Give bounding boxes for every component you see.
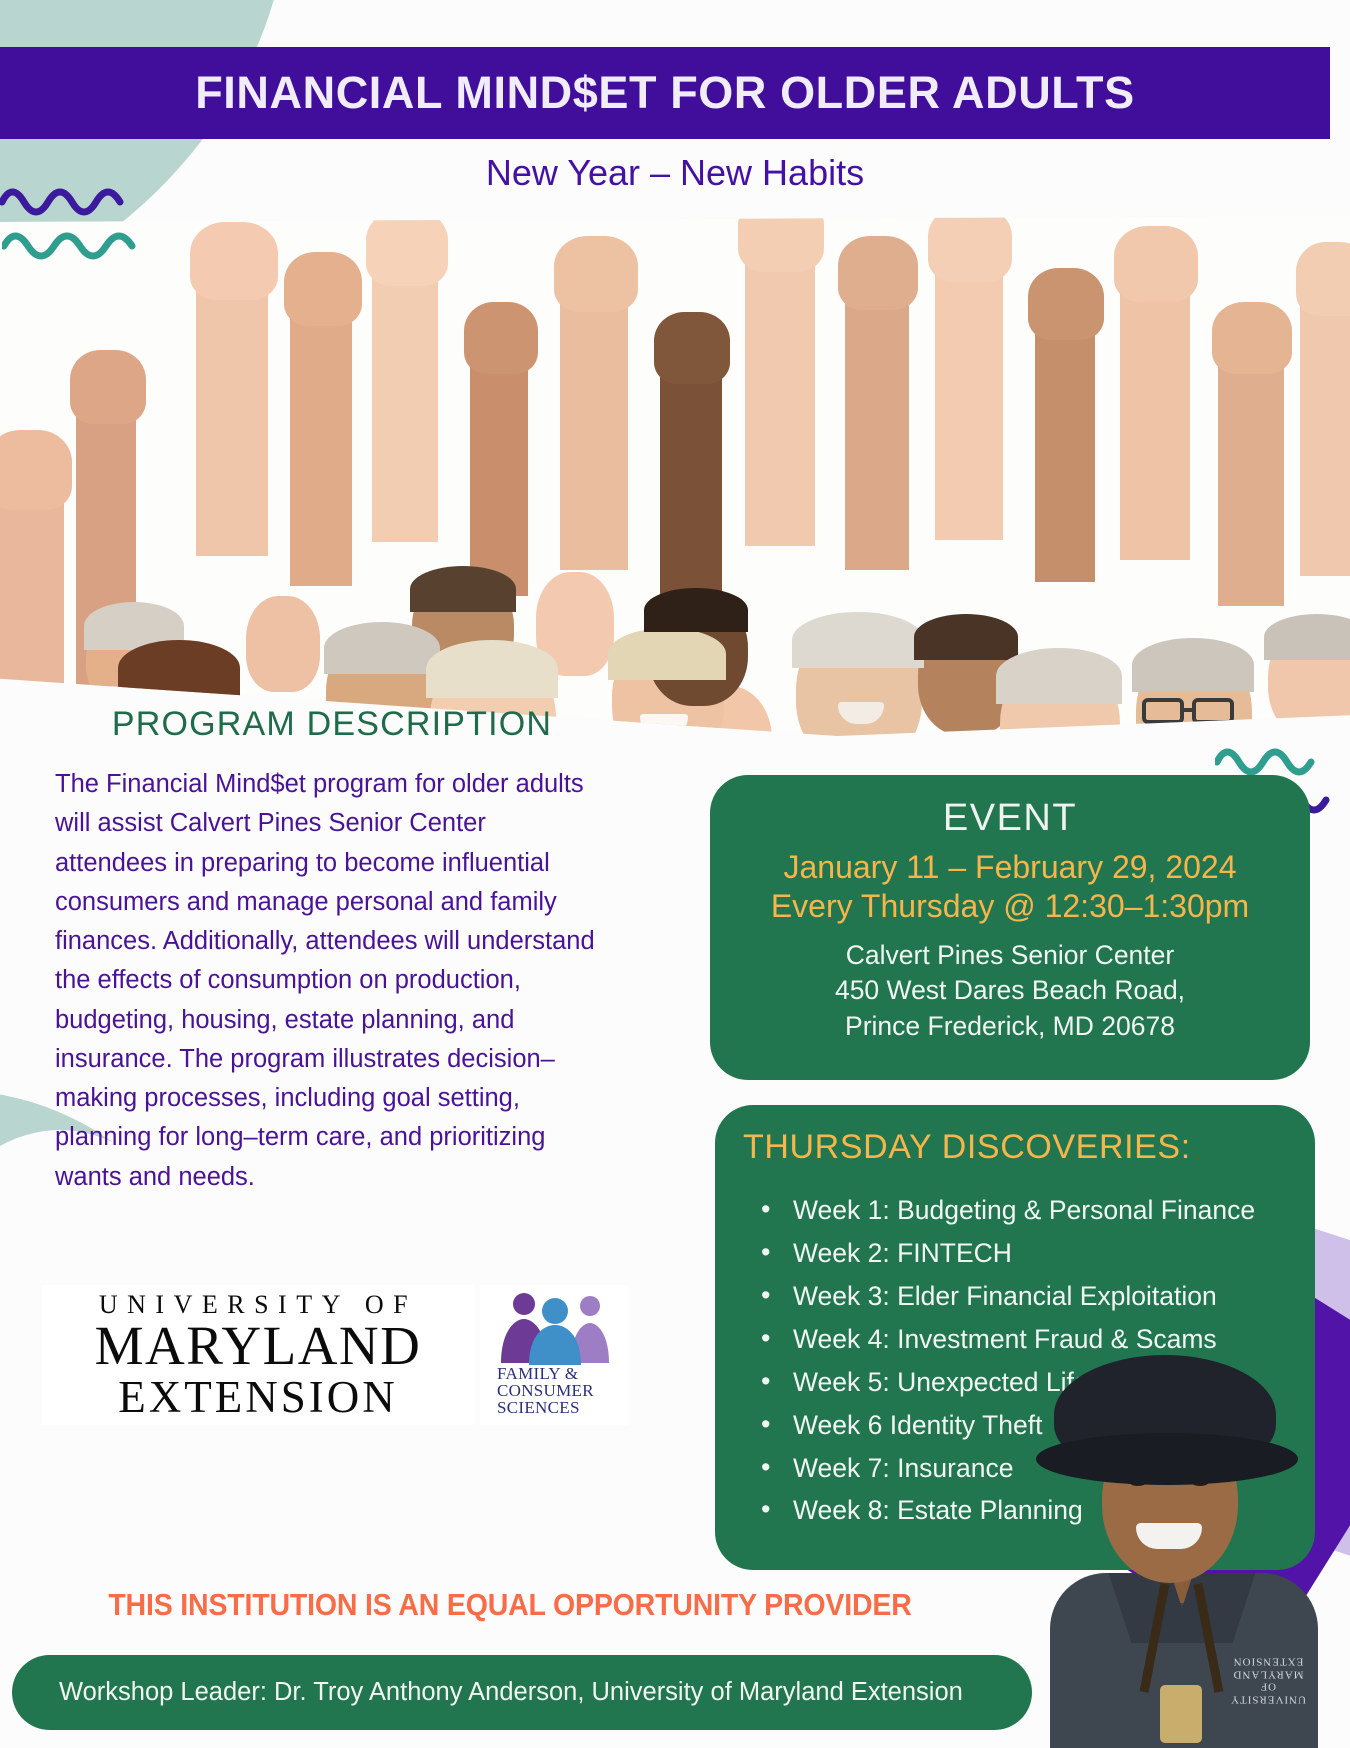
event-card-title: EVENT [710, 797, 1310, 840]
event-card: EVENT January 11 – February 29, 2024 Eve… [710, 775, 1310, 1080]
hero-photo [0, 216, 1350, 736]
flyer-page: FINANCIAL MIND$ET FOR OLDER ADULTS New Y… [0, 0, 1350, 1748]
squiggle-teal-icon [2, 222, 152, 262]
title-banner: FINANCIAL MIND$ET FOR OLDER ADULTS [0, 47, 1330, 139]
fcs-line1: FAMILY & [497, 1365, 615, 1382]
event-venue-street: 450 West Dares Beach Road, [710, 973, 1310, 1008]
family-consumer-sciences-logo: FAMILY & CONSUMER SCIENCES [480, 1285, 628, 1425]
discoveries-list-item: Week 3: Elder Financial Exploitation [793, 1275, 1315, 1318]
umd-extension-logo: UNIVERSITY OF MARYLAND EXTENSION [42, 1285, 474, 1425]
program-description-heading: PROGRAM DESCRIPTION [82, 705, 582, 744]
event-schedule: Every Thursday @ 12:30–1:30pm [710, 887, 1310, 926]
equal-opportunity-statement: THIS INSTITUTION IS AN EQUAL OPPORTUNITY… [41, 1587, 979, 1623]
event-venue-city: Prince Frederick, MD 20678 [710, 1009, 1310, 1044]
fcs-line3: SCIENCES [497, 1399, 615, 1416]
fcs-line2: CONSUMER [497, 1382, 615, 1399]
presenter-photo: UNIVERSITY OF MARYLAND EXTENSION [1032, 1355, 1332, 1748]
fcs-logo-text: FAMILY & CONSUMER SCIENCES [493, 1365, 615, 1416]
event-venue-name: Calvert Pines Senior Center [710, 938, 1310, 973]
discoveries-list-item: Week 1: Budgeting & Personal Finance [793, 1189, 1315, 1232]
event-date-range: January 11 – February 29, 2024 [710, 848, 1310, 887]
umd-logo-line3: EXTENSION [118, 1374, 397, 1421]
fcs-people-icon [493, 1291, 615, 1365]
workshop-leader-text: Workshop Leader: Dr. Troy Anthony Anders… [59, 1678, 963, 1707]
discoveries-list-item: Week 2: FINTECH [793, 1232, 1315, 1275]
footer-bar: Workshop Leader: Dr. Troy Anthony Anders… [12, 1655, 1032, 1730]
page-title: FINANCIAL MIND$ET FOR OLDER ADULTS [195, 67, 1135, 119]
page-subtitle: New Year – New Habits [0, 152, 1350, 194]
program-description-body: The Financial Mind$et program for older … [55, 765, 600, 1197]
squiggle-teal-right-icon [1215, 740, 1345, 776]
discoveries-title: THURSDAY DISCOVERIES: [743, 1128, 1315, 1167]
umd-logo-line1: UNIVERSITY OF [99, 1291, 417, 1318]
umd-logo-line2: MARYLAND [95, 1318, 422, 1374]
